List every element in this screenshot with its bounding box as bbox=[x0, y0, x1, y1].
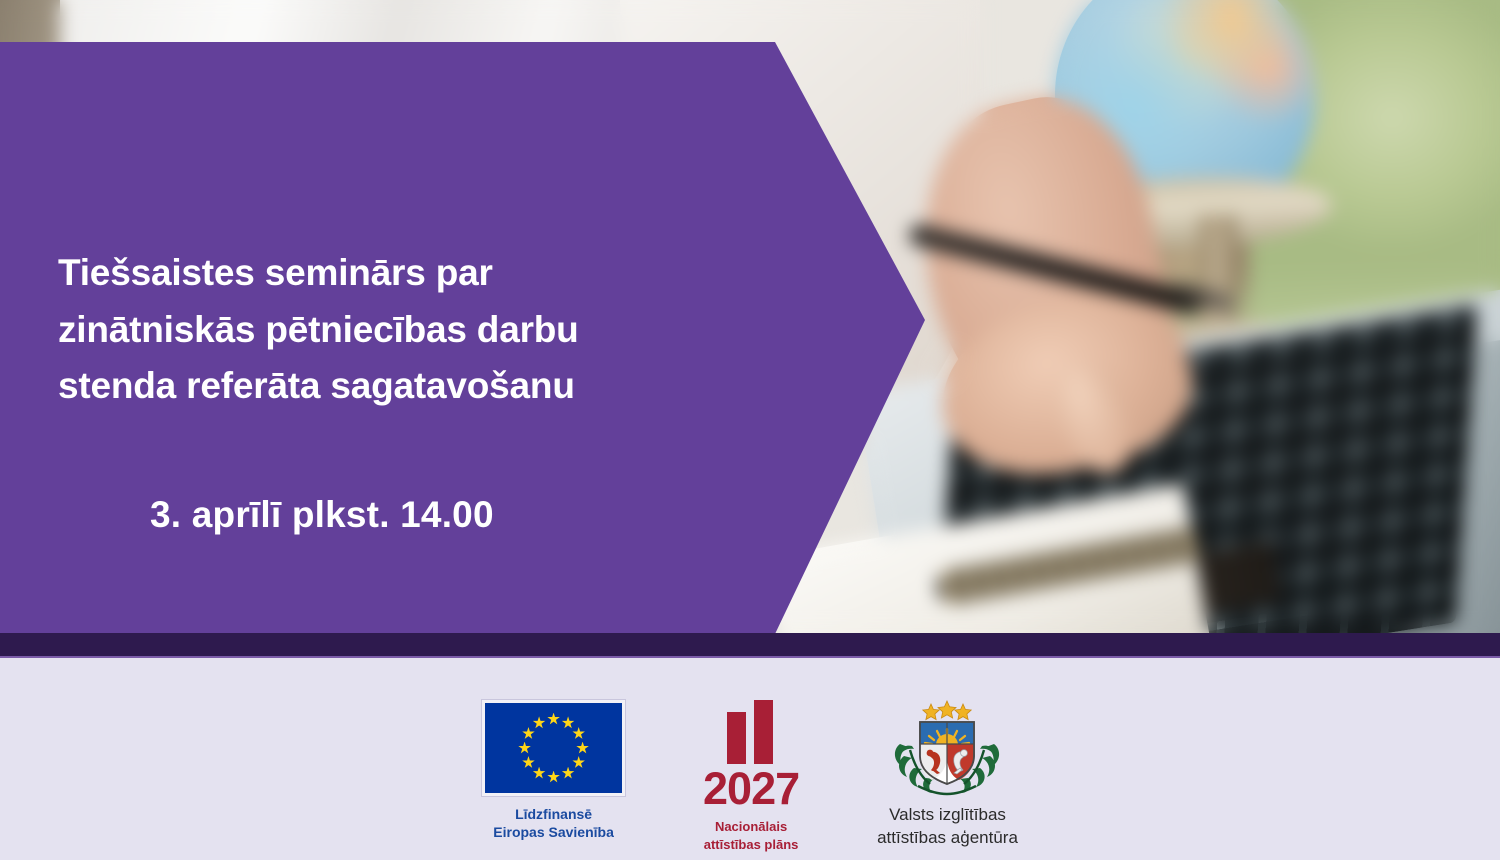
eu-star bbox=[572, 756, 585, 769]
eu-star bbox=[533, 716, 546, 729]
eu-star bbox=[562, 767, 575, 780]
logo-nap-caption: Nacionālais attīstības plāns bbox=[704, 818, 799, 853]
nap-bars-icon bbox=[719, 700, 783, 764]
hero-section: Tiešsaistes seminārs par zinātniskās pēt… bbox=[0, 0, 1500, 633]
logo-eu-caption-line-2: Eiropas Savienība bbox=[493, 823, 614, 841]
eu-flag-icon bbox=[482, 700, 625, 796]
logo-viaa: Valsts izglītības attīstības aģentūra bbox=[877, 700, 1018, 850]
footer-logo-bar: Līdzfinansē Eiropas Savienība 2027 Nacio… bbox=[0, 658, 1500, 860]
eu-star bbox=[522, 727, 535, 740]
logo-row: Līdzfinansē Eiropas Savienība 2027 Nacio… bbox=[0, 658, 1500, 860]
eu-star bbox=[533, 767, 546, 780]
latvia-coat-of-arms-icon bbox=[888, 700, 1006, 796]
eu-star bbox=[572, 727, 585, 740]
logo-eu: Līdzfinansē Eiropas Savienība bbox=[482, 700, 625, 842]
eu-star bbox=[562, 716, 575, 729]
eu-star bbox=[576, 742, 589, 755]
eu-star bbox=[547, 713, 560, 726]
logo-viaa-caption-line-2: attīstības aģentūra bbox=[877, 827, 1018, 850]
logo-nap-caption-line-2: attīstības plāns bbox=[704, 836, 799, 854]
headline-line-1: Tiešsaistes seminārs par bbox=[58, 245, 838, 302]
event-banner: Tiešsaistes seminārs par zinātniskās pēt… bbox=[0, 0, 1500, 860]
nap-bar-left bbox=[727, 712, 746, 764]
headline-line-2: zinātniskās pētniecības darbu bbox=[58, 302, 838, 359]
eu-stars-group bbox=[485, 703, 622, 793]
logo-viaa-caption-line-1: Valsts izglītības bbox=[877, 804, 1018, 827]
logo-nap-caption-line-1: Nacionālais bbox=[704, 818, 799, 836]
logo-nap-year: 2027 bbox=[703, 766, 799, 811]
event-datetime: 3. aprīlī plkst. 14.00 bbox=[150, 494, 494, 536]
logo-eu-caption-line-1: Līdzfinansē bbox=[493, 805, 614, 823]
eu-star bbox=[518, 742, 531, 755]
logo-viaa-caption: Valsts izglītības attīstības aģentūra bbox=[877, 804, 1018, 850]
dark-divider-band bbox=[0, 633, 1500, 658]
eu-star bbox=[547, 771, 560, 784]
eu-star bbox=[522, 756, 535, 769]
page-title: Tiešsaistes seminārs par zinātniskās pēt… bbox=[58, 245, 838, 415]
logo-nap-2027: 2027 Nacionālais attīstības plāns bbox=[687, 700, 815, 853]
nap-bar-right bbox=[754, 700, 773, 764]
logo-eu-caption: Līdzfinansē Eiropas Savienība bbox=[493, 805, 614, 842]
headline-line-3: stenda referāta sagatavošanu bbox=[58, 358, 838, 415]
